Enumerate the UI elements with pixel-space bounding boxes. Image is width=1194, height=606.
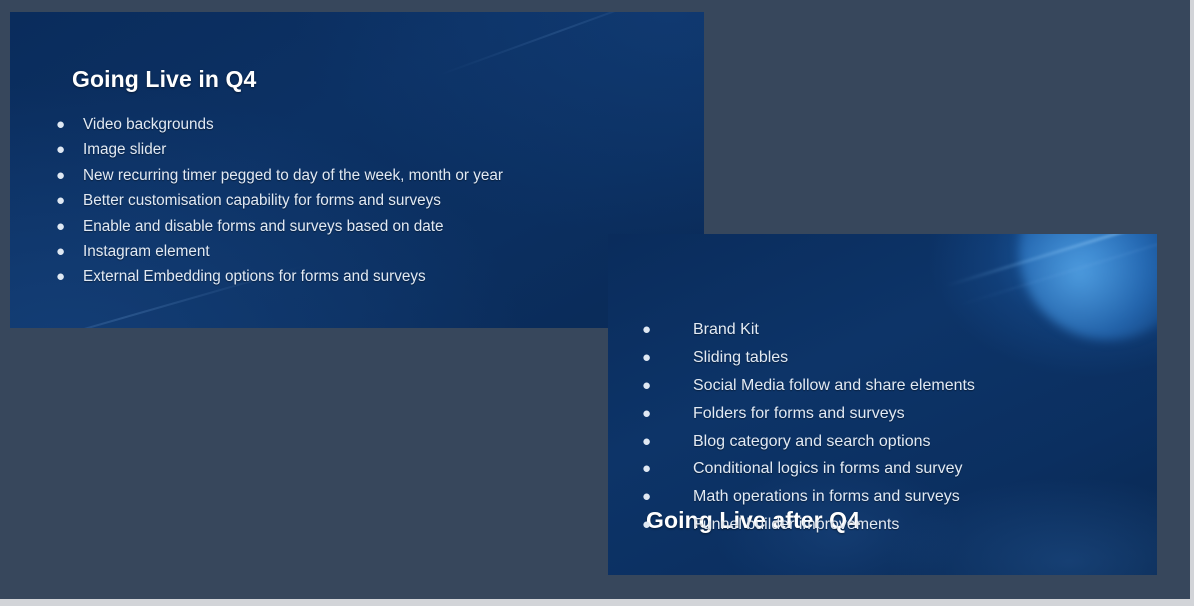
list-item: ● Math operations in forms and surveys (642, 483, 975, 511)
list-item-label: Brand Kit (693, 316, 759, 344)
bullet-dot-icon: ● (642, 372, 693, 400)
list-item: ● New recurring timer pegged to day of t… (56, 163, 503, 188)
list-item-label: Folders for forms and surveys (693, 400, 905, 428)
list-item: ● Brand Kit (642, 316, 975, 344)
list-item-label: Sliding tables (693, 344, 788, 372)
bullet-dot-icon: ● (56, 163, 83, 188)
slide-title-going-live-in-q4: Going Live in Q4 (72, 66, 256, 93)
slide-going-live-in-q4[interactable]: Going Live in Q4 ● Video backgrounds ● I… (10, 12, 704, 328)
slide-canvas: Going Live in Q4 ● Video backgrounds ● I… (0, 0, 1194, 606)
feature-list-q4: ● Video backgrounds ● Image slider ● New… (56, 112, 503, 290)
bullet-dot-icon: ● (56, 264, 83, 289)
list-item: ● Better customisation capability for fo… (56, 188, 503, 213)
bullet-dot-icon: ● (56, 214, 83, 239)
list-item: ● Enable and disable forms and surveys b… (56, 214, 503, 239)
bullet-dot-icon: ● (642, 483, 693, 511)
list-item: ● Sliding tables (642, 344, 975, 372)
list-item-label: Instagram element (83, 239, 210, 264)
bullet-dot-icon: ● (56, 112, 83, 137)
list-item: ● Funnel builder improvements (642, 511, 975, 539)
bullet-dot-icon: ● (642, 511, 693, 539)
bullet-dot-icon: ● (56, 239, 83, 264)
list-item-label: Math operations in forms and surveys (693, 483, 960, 511)
list-item: ● Social Media follow and share elements (642, 372, 975, 400)
list-item: ● External Embedding options for forms a… (56, 264, 503, 289)
list-item: ● Conditional logics in forms and survey (642, 455, 975, 483)
list-item-label: Blog category and search options (693, 428, 930, 456)
list-item-label: Funnel builder improvements (693, 511, 899, 539)
list-item: ● Instagram element (56, 239, 503, 264)
light-streak-secondary-decoration-icon (437, 12, 682, 76)
slide-going-live-after-q4[interactable]: Going Live after Q4 ● Brand Kit ● Slidin… (608, 234, 1157, 575)
bullet-dot-icon: ● (56, 188, 83, 213)
bullet-dot-icon: ● (642, 428, 693, 456)
list-item-label: Better customisation capability for form… (83, 188, 441, 213)
list-item-label: External Embedding options for forms and… (83, 264, 426, 289)
list-item-label: Social Media follow and share elements (693, 372, 975, 400)
list-item-label: Video backgrounds (83, 112, 214, 137)
list-item: ● Video backgrounds (56, 112, 503, 137)
bullet-dot-icon: ● (56, 137, 83, 162)
feature-list-after-q4: ● Brand Kit ● Sliding tables ● Social Me… (642, 316, 975, 539)
bullet-dot-icon: ● (642, 344, 693, 372)
list-item: ● Image slider (56, 137, 503, 162)
bullet-dot-icon: ● (642, 316, 693, 344)
bullet-dot-icon: ● (642, 400, 693, 428)
bullet-dot-icon: ● (642, 455, 693, 483)
list-item-label: New recurring timer pegged to day of the… (83, 163, 503, 188)
list-item: ● Blog category and search options (642, 428, 975, 456)
list-item-label: Image slider (83, 137, 166, 162)
list-item-label: Enable and disable forms and surveys bas… (83, 214, 444, 239)
list-item-label: Conditional logics in forms and survey (693, 455, 962, 483)
list-item: ● Folders for forms and surveys (642, 400, 975, 428)
